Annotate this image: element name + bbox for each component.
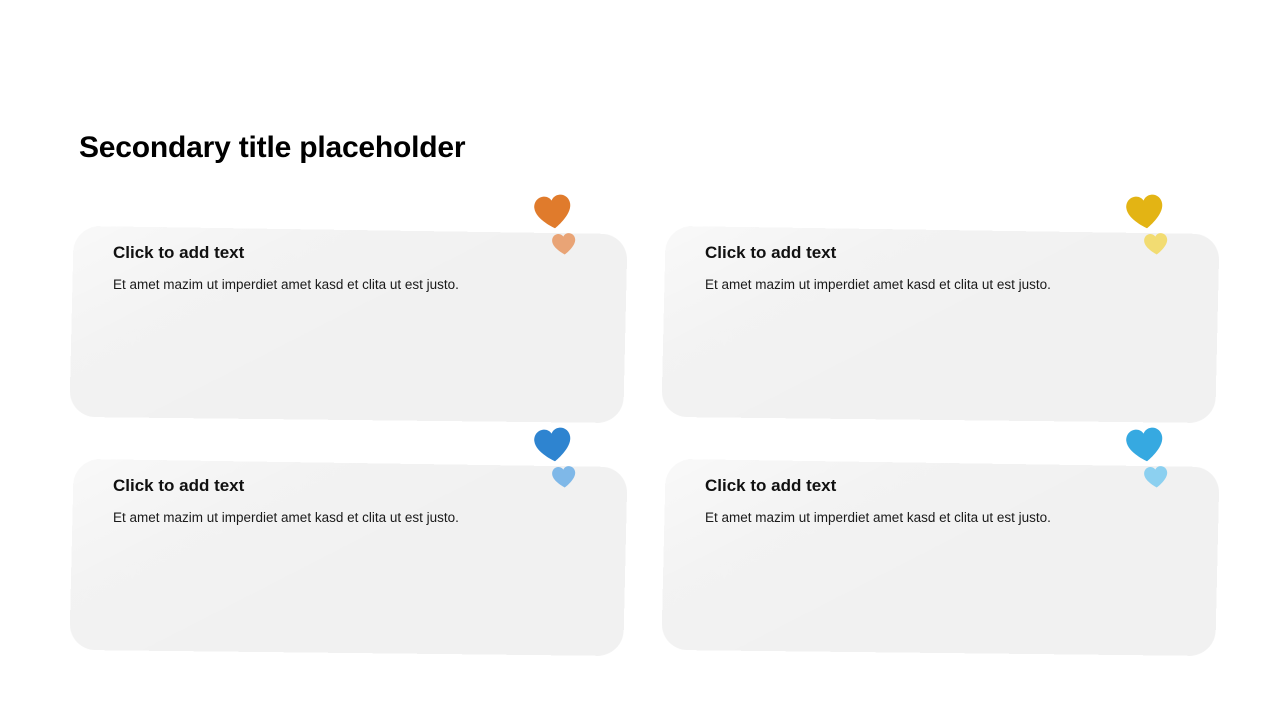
heart-icon-path xyxy=(533,427,573,464)
heart-icon-path xyxy=(1125,194,1165,231)
card-heading[interactable]: Click to add text xyxy=(113,242,583,264)
heart-icon xyxy=(1124,193,1166,231)
slide-canvas: Secondary title placeholder Click to add… xyxy=(0,0,1280,720)
card-top-left[interactable]: Click to add text Et amet mazim ut imper… xyxy=(63,190,623,410)
card-heading[interactable]: Click to add text xyxy=(705,242,1175,264)
heart-icon-path xyxy=(1125,427,1165,464)
card-bottom-left[interactable]: Click to add text Et amet mazim ut imper… xyxy=(63,423,623,643)
heart-icon xyxy=(532,426,574,464)
heart-icon xyxy=(1124,426,1166,464)
card-body-text[interactable]: Et amet mazim ut imperdiet amet kasd et … xyxy=(705,508,1175,527)
card-text-block: Click to add text Et amet mazim ut imper… xyxy=(113,242,583,294)
card-body-text[interactable]: Et amet mazim ut imperdiet amet kasd et … xyxy=(113,508,583,527)
card-body-text[interactable]: Et amet mazim ut imperdiet amet kasd et … xyxy=(705,275,1175,294)
card-text-block: Click to add text Et amet mazim ut imper… xyxy=(113,475,583,527)
card-text-block: Click to add text Et amet mazim ut imper… xyxy=(705,242,1175,294)
card-heading[interactable]: Click to add text xyxy=(705,475,1175,497)
page-title[interactable]: Secondary title placeholder xyxy=(79,130,465,166)
card-text-block: Click to add text Et amet mazim ut imper… xyxy=(705,475,1175,527)
card-bottom-right[interactable]: Click to add text Et amet mazim ut imper… xyxy=(655,423,1215,643)
card-body-text[interactable]: Et amet mazim ut imperdiet amet kasd et … xyxy=(113,275,583,294)
card-top-right[interactable]: Click to add text Et amet mazim ut imper… xyxy=(655,190,1215,410)
heart-icon xyxy=(532,193,574,231)
heart-icon-path xyxy=(533,194,573,231)
card-heading[interactable]: Click to add text xyxy=(113,475,583,497)
